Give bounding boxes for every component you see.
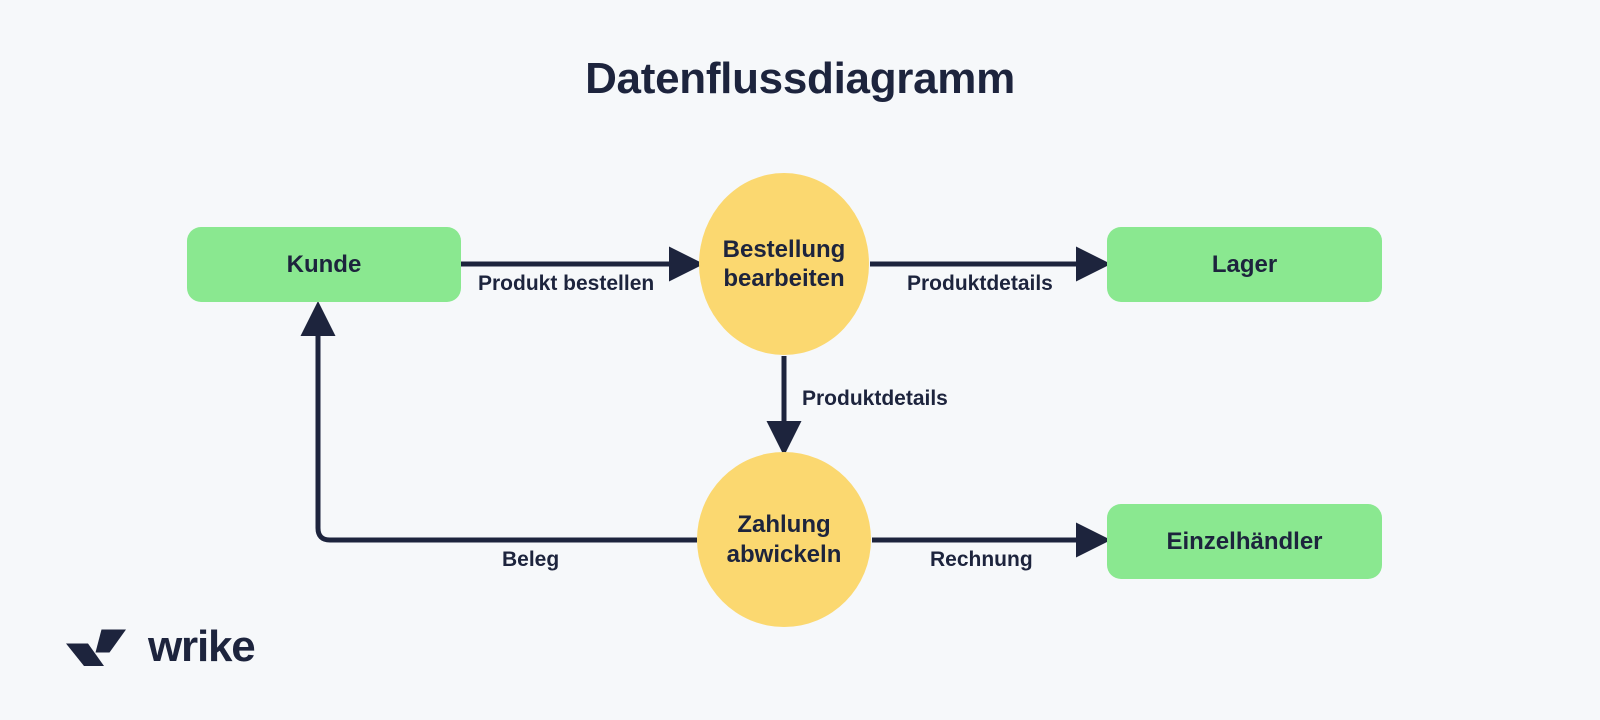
- node-kunde[interactable]: Kunde: [187, 227, 461, 302]
- node-bestellung-line-1: Bestellung: [723, 236, 846, 263]
- node-lager[interactable]: Lager: [1107, 227, 1382, 302]
- edge-label-produkt-bestellen: Produkt bestellen: [478, 273, 654, 294]
- node-bestellung-bearbeiten[interactable]: Bestellung bearbeiten: [699, 173, 869, 355]
- node-zahlung-abwickeln[interactable]: Zahlung abwickeln: [697, 452, 871, 627]
- node-zahlung-line-2: abwickeln: [727, 541, 842, 568]
- wrike-checkmark-icon: [62, 626, 134, 668]
- edge-zahlung-kunde: [318, 308, 697, 540]
- wrike-wordmark: wrike: [148, 625, 255, 669]
- node-einzelhaendler[interactable]: Einzelhändler: [1107, 504, 1382, 579]
- edge-label-produktdetails-zahlung: Produktdetails: [802, 388, 948, 409]
- data-flow-diagram: Datenflussdiagramm Kunde: [0, 0, 1600, 720]
- node-kunde-label: Kunde: [287, 250, 362, 279]
- page-title: Datenflussdiagramm: [0, 55, 1600, 103]
- node-einzelhaendler-label: Einzelhändler: [1166, 527, 1322, 556]
- edge-label-produktdetails-lager: Produktdetails: [907, 273, 1053, 294]
- edge-label-beleg: Beleg: [502, 549, 559, 570]
- wrike-logo: wrike: [62, 625, 255, 669]
- edge-label-rechnung: Rechnung: [930, 549, 1033, 570]
- node-lager-label: Lager: [1212, 250, 1277, 279]
- node-bestellung-line-2: bearbeiten: [723, 265, 844, 292]
- node-zahlung-abwickeln-label: Zahlung abwickeln: [727, 510, 842, 569]
- node-zahlung-line-1: Zahlung: [737, 511, 830, 538]
- node-bestellung-bearbeiten-label: Bestellung bearbeiten: [723, 235, 846, 294]
